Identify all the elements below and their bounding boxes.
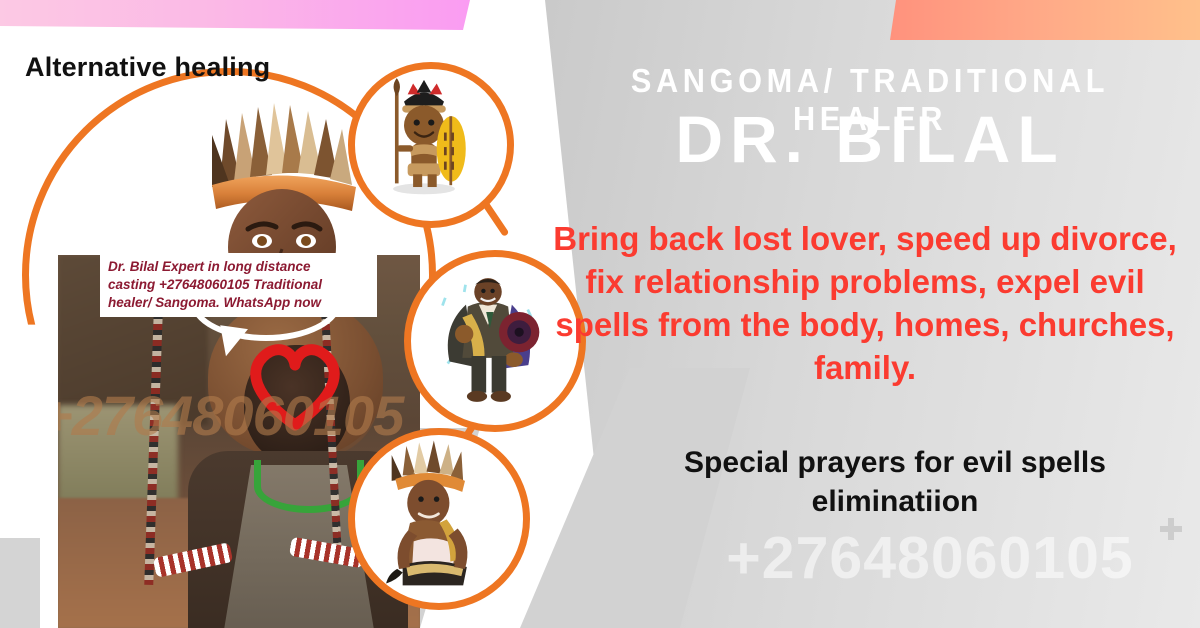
services-description: Bring back lost lover, speed up divorce,… [540, 218, 1190, 390]
special-prayers-text: Special prayers for evil spells eliminat… [600, 443, 1190, 521]
gray-corner-block [0, 538, 40, 628]
zulu-warrior-illustration [348, 62, 514, 228]
pink-ribbon-decoration [0, 0, 470, 30]
poster-canvas: Alternative healing [0, 0, 1200, 628]
phone-watermark: +27648060105 [660, 524, 1200, 592]
photo-phone-watermark: +27648060105 [58, 383, 420, 448]
caption-line-2: casting +27648060105 Traditional [108, 276, 370, 294]
caption-line-3: healer/ Sangoma. WhatsApp now [108, 294, 370, 312]
kneeling-sangoma-illustration [348, 428, 530, 610]
orange-ribbon-decoration [890, 0, 1200, 40]
page-title: Alternative healing [25, 52, 270, 83]
caption-line-1: Dr. Bilal Expert in long distance [108, 258, 370, 276]
photo-necklace [254, 460, 364, 513]
photo-caption: Dr. Bilal Expert in long distance castin… [100, 253, 377, 317]
doctor-name-title: DR. BILAL [560, 105, 1180, 174]
